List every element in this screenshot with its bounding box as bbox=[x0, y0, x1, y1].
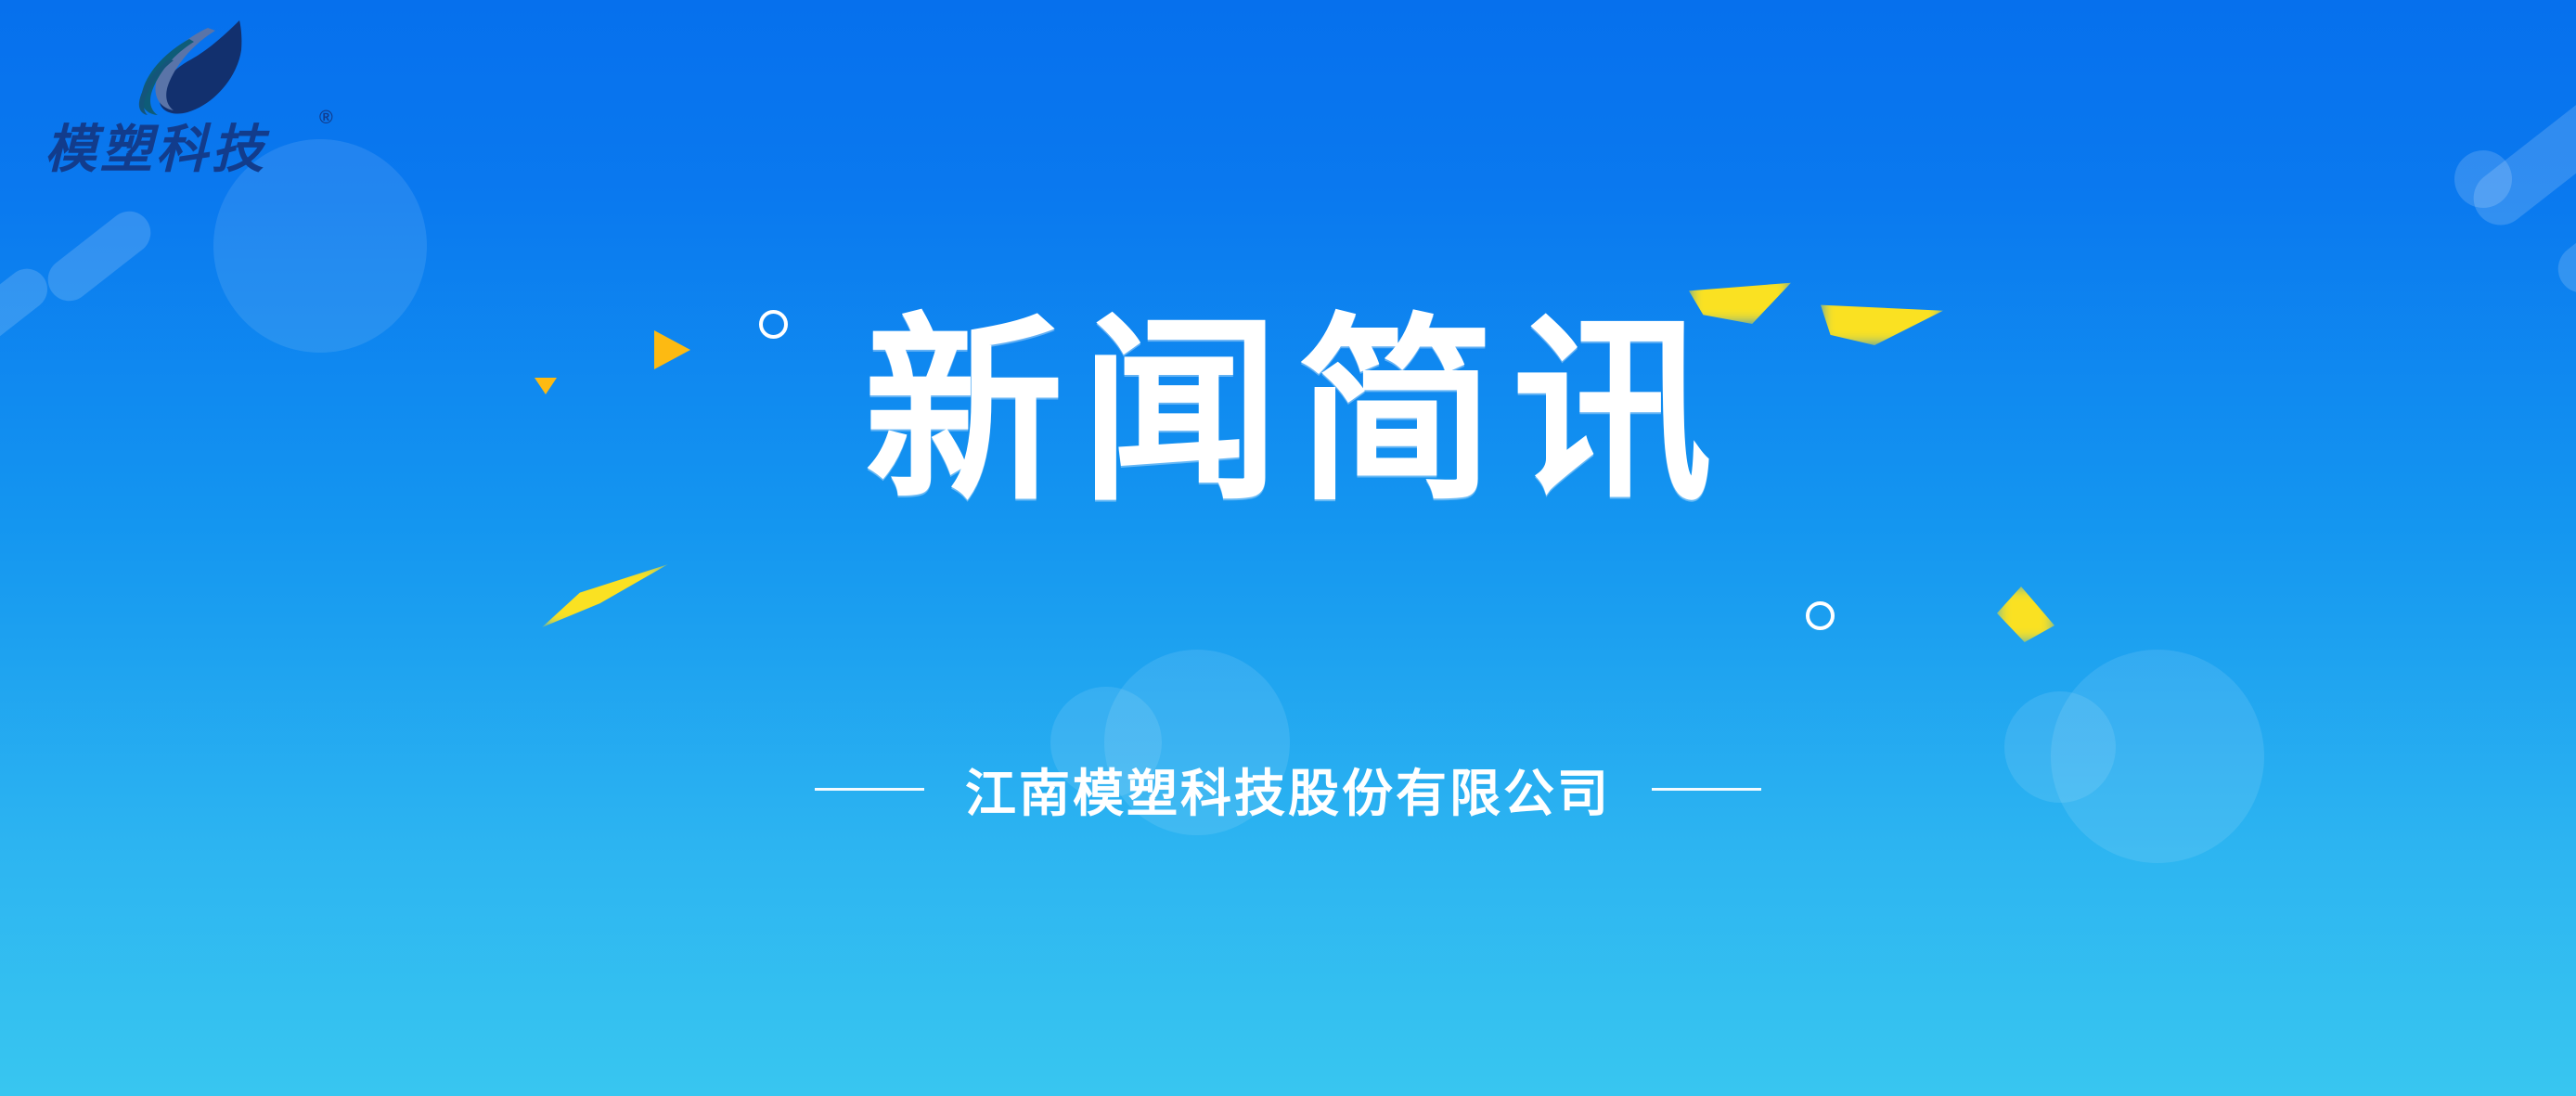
news-banner: 模塑科技 ® 新闻简讯 江南模塑科技股份有限公司 bbox=[0, 0, 2576, 1096]
logo-wordmark: 模塑科技 bbox=[45, 108, 267, 183]
yellow-ribbon-lower-right bbox=[1997, 587, 2054, 642]
diagonal-bar-top-right-1 bbox=[2463, 22, 2576, 236]
subtitle-row: 江南模塑科技股份有限公司 bbox=[0, 752, 2576, 826]
white-ring-lower-right bbox=[1806, 601, 1835, 630]
registered-trademark-icon: ® bbox=[319, 108, 333, 129]
rule-right bbox=[1652, 788, 1761, 791]
diagonal-bar-left-1 bbox=[39, 202, 159, 309]
dot-top-right bbox=[2454, 150, 2512, 208]
company-logo[interactable]: 模塑科技 ® bbox=[45, 19, 341, 167]
page-title: 新闻简讯 bbox=[0, 306, 2576, 516]
company-name: 江南模塑科技股份有限公司 bbox=[965, 752, 1611, 826]
yellow-ribbon-left bbox=[542, 564, 668, 627]
rule-left bbox=[815, 788, 924, 791]
droplet-logo-icon bbox=[100, 19, 286, 121]
diagonal-bar-top-right-2 bbox=[2548, 145, 2576, 303]
